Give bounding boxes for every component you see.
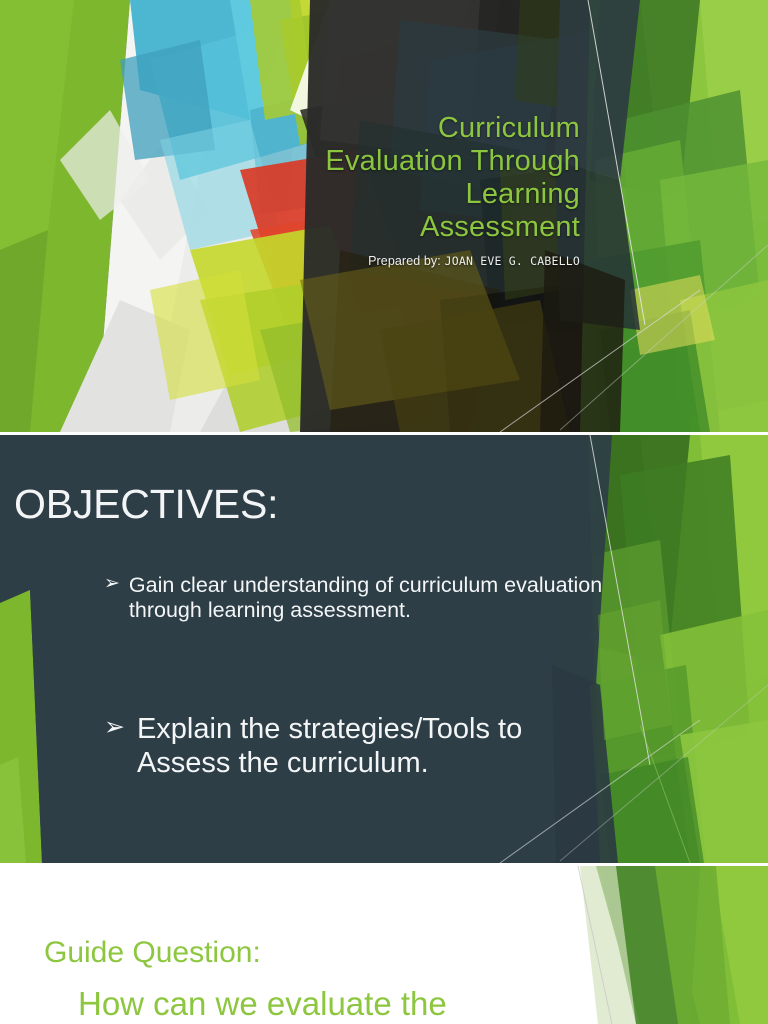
title-line-4: Assessment <box>160 211 580 244</box>
title-line-3: Learning <box>160 178 580 211</box>
bullet-arrow-icon: ➢ <box>104 573 120 595</box>
title-line-2: Evaluation Through <box>160 145 580 178</box>
guide-question-slide: Guide Question: How can we evaluate the <box>0 866 768 1024</box>
title-slide: Curriculum Evaluation Through Learning A… <box>0 0 768 432</box>
objectives-bullet-1: ➢ Gain clear understanding of curriculum… <box>104 573 604 623</box>
objectives-bullet-2-text: Explain the strategies/Tools to Assess t… <box>137 713 604 780</box>
prepared-by-label: Prepared by: <box>368 254 441 268</box>
prepared-by-line: Prepared by: JOAN EVE G. CABELLO <box>160 254 580 268</box>
objectives-bullet-2: ➢ Explain the strategies/Tools to Assess… <box>104 713 604 780</box>
title-text-block: Curriculum Evaluation Through Learning A… <box>160 112 580 268</box>
objectives-slide: OBJECTIVES: ➢ Gain clear understanding o… <box>0 435 768 863</box>
bullet-arrow-icon: ➢ <box>104 713 125 742</box>
objectives-bullet-1-text: Gain clear understanding of curriculum e… <box>129 573 604 623</box>
title-line-1: Curriculum <box>160 112 580 145</box>
objectives-heading: OBJECTIVES: <box>14 480 278 528</box>
author-name: JOAN EVE G. CABELLO <box>445 254 580 268</box>
guide-question-heading: Guide Question: <box>44 936 261 970</box>
guide-question-text: How can we evaluate the <box>78 984 447 1024</box>
slide-deck: Curriculum Evaluation Through Learning A… <box>0 0 768 1024</box>
objectives-bullet-list: ➢ Gain clear understanding of curriculum… <box>104 573 604 780</box>
